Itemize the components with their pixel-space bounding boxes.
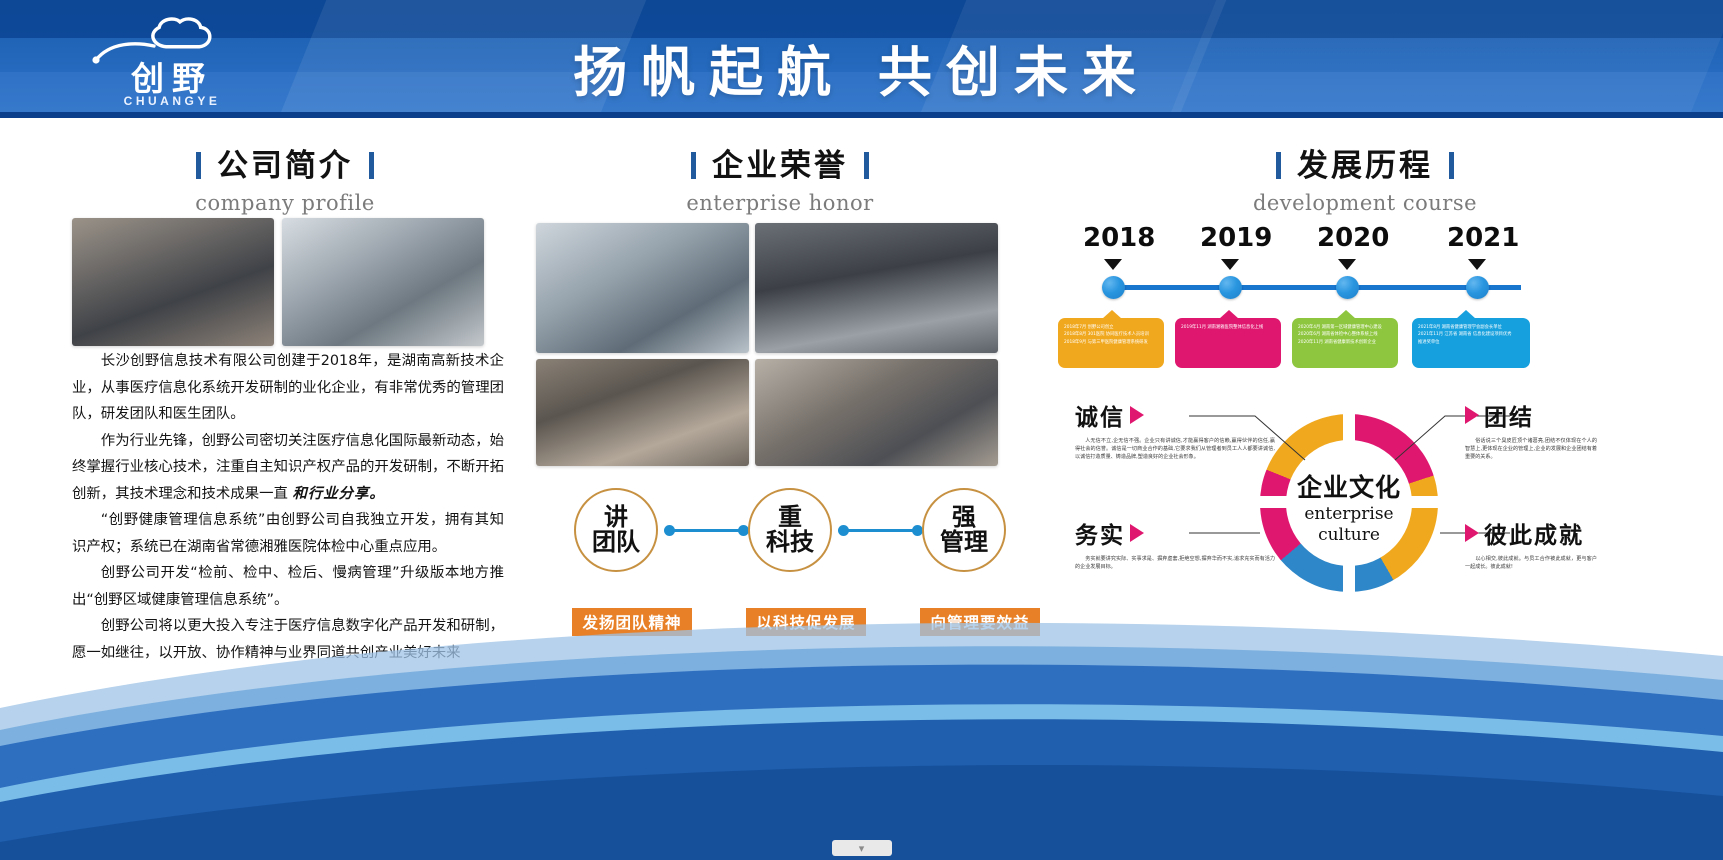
section-title-profile: 公司简介 company profile — [60, 140, 510, 215]
section-title-profile-en: company profile — [60, 191, 510, 215]
connector-dot-3 — [838, 525, 849, 536]
circle-connector-1 — [670, 529, 744, 532]
arrow-right-icon — [1465, 524, 1479, 542]
timeline-box-2019: 2019年11月 湖南湘雅医院整体信息化上线 — [1175, 318, 1281, 368]
culture-ring-title-cn: 企业文化 — [1260, 468, 1438, 504]
timeline-node-2018[interactable] — [1102, 276, 1125, 299]
honor-photo-1 — [536, 223, 749, 353]
arrow-right-icon — [1130, 524, 1144, 542]
section-title-profile-cn: 公司简介 — [60, 140, 510, 185]
culture-item-pragmatism-head: 务实 — [1075, 516, 1275, 550]
scroll-indicator[interactable]: ▾ — [832, 840, 892, 856]
profile-paragraph-2: 作为行业先锋，创野公司密切关注医疗信息化国际最新动态，始终掌握行业核心技术，注重… — [72, 428, 504, 508]
poster-main-title: 扬帆起航 共创未来 — [0, 28, 1723, 107]
profile-paragraph-1: 长沙创野信息技术有限公司创建于2018年，是湖南高新技术企业，从事医疗信息化系统… — [72, 348, 504, 428]
section-title-honor-en: enterprise honor — [520, 191, 1040, 215]
timeline-event: 2021年11月 江苏省 湖南省 信息化建设项目优秀 — [1418, 331, 1525, 338]
culture-item-integrity: 诚信 人无信不立,企无信不强。企业只有讲诚信,才能赢得客户的信赖,赢得伙伴的信任… — [1075, 398, 1275, 462]
culture-ring-label: 企业文化 enterprise culture — [1260, 468, 1438, 546]
timeline-box-2021: 2021年8月 湖南省健康管理学会副会长单位 2021年11月 江苏省 湖南省 … — [1412, 318, 1530, 368]
honor-photo-2 — [755, 223, 998, 353]
title-bar-left — [196, 152, 201, 179]
timeline-node-2020[interactable] — [1336, 276, 1359, 299]
timeline-box-notch — [1102, 310, 1122, 319]
ring-gap-top — [1343, 410, 1355, 444]
section-title-honor-cn: 企业荣誉 — [520, 140, 1040, 185]
culture-item-pragmatism-title: 务实 — [1075, 516, 1125, 550]
timeline-event: 2020年6月 湖南省体检中心整体系统上线 — [1298, 331, 1393, 338]
footer-wave-decoration: ▾ — [0, 560, 1723, 860]
culture-item-integrity-head: 诚信 — [1075, 398, 1275, 432]
timeline-year-2019: 2019 — [1200, 223, 1272, 253]
title-bar-right — [369, 152, 374, 179]
title-bar-left — [1276, 152, 1281, 179]
keyword-circle-team-text: 讲团队 — [592, 505, 640, 555]
timeline-year-2018: 2018 — [1083, 223, 1155, 253]
arrow-right-icon — [1465, 406, 1479, 424]
timeline-event: 2019年11月 湖南湘雅医院整体信息化上线 — [1181, 324, 1276, 331]
timeline-year-2020: 2020 — [1317, 223, 1389, 253]
timeline-box-notch — [1219, 310, 1239, 319]
timeline-caret-2019 — [1221, 259, 1239, 270]
culture-item-mutual-achievement-head: 彼此成就 — [1465, 516, 1665, 550]
keyword-circle-tech-text: 重科技 — [766, 505, 814, 555]
timeline-caret-2021 — [1468, 259, 1486, 270]
connector-dot-1 — [664, 525, 675, 536]
circle-connector-2 — [844, 529, 918, 532]
culture-item-unity: 团结 俗话说三个臭皮匠顶个诸葛亮,团结不仅体现在个人的智慧上,更体现在企业的管理… — [1465, 398, 1665, 462]
profile-photo-2 — [282, 218, 484, 346]
section-title-honor: 企业荣誉 enterprise honor — [520, 140, 1040, 215]
poster-header: 创野 CHUANGYE 扬帆起航 共创未来 — [0, 0, 1723, 118]
culture-wall-poster: 创野 CHUANGYE 扬帆起航 共创未来 公司简介 company profi… — [0, 0, 1723, 860]
timeline-event: 2018年7月 创野公司创立 — [1064, 324, 1159, 331]
section-title-course-en: development course — [1055, 191, 1675, 215]
title-bar-left — [691, 152, 696, 179]
culture-item-mutual-achievement-title: 彼此成就 — [1484, 516, 1584, 550]
culture-item-integrity-title: 诚信 — [1075, 398, 1125, 432]
timeline-box-2020: 2020年4月 湖南第一区域健康管理中心建设 2020年6月 湖南省体检中心整体… — [1292, 318, 1398, 368]
profile-paragraph-3: “创野健康管理信息系统”由创野公司自我独立开发，拥有其知识产权；系统已在湖南省常… — [72, 507, 504, 560]
culture-ring-title-en1: enterprise — [1260, 504, 1438, 525]
timeline-event: 2021年8月 湖南省健康管理学会副会长单位 — [1418, 324, 1525, 331]
title-bar-right — [1449, 152, 1454, 179]
timeline-event: 2020年4月 湖南第一区域健康管理中心建设 — [1298, 324, 1393, 331]
culture-item-unity-body: 俗话说三个臭皮匠顶个诸葛亮,团结不仅体现在个人的智慧上,更体现在企业的管理上,企… — [1465, 437, 1597, 462]
culture-item-integrity-body: 人无信不立,企无信不强。企业只有讲诚信,才能赢得客户的信赖,赢得伙伴的信任,赢得… — [1075, 437, 1275, 462]
honor-photo-3 — [536, 359, 749, 466]
arrow-right-icon — [1130, 406, 1144, 424]
keyword-circle-management-text: 强管理 — [940, 505, 988, 555]
timeline-box-2018: 2018年7月 创野公司创立 2018年8月 301医院 协同医疗技术人员培训 … — [1058, 318, 1164, 368]
section-title-course-cn: 发展历程 — [1055, 140, 1675, 185]
profile-photo-1 — [72, 218, 274, 346]
timeline-axis — [1109, 285, 1521, 290]
culture-item-unity-title: 团结 — [1484, 398, 1534, 432]
timeline-box-notch — [1456, 310, 1476, 319]
timeline-event: 2018年8月 301医院 协同医疗技术人员培训 — [1064, 331, 1159, 338]
profile-highlight-phrase: 和行业分享。 — [292, 485, 384, 502]
timeline-box-notch — [1336, 310, 1356, 319]
timeline-caret-2018 — [1104, 259, 1122, 270]
timeline-node-2021[interactable] — [1466, 276, 1489, 299]
culture-item-unity-head: 团结 — [1465, 398, 1665, 432]
timeline-event: 2018年9月 与第三甲医院健康管理系统研发 — [1064, 339, 1159, 346]
timeline-event: 推进奖单位 — [1418, 339, 1525, 346]
honor-photo-4 — [755, 359, 998, 466]
timeline-year-2021: 2021 — [1447, 223, 1519, 253]
timeline-node-2019[interactable] — [1219, 276, 1242, 299]
section-title-course: 发展历程 development course — [1055, 140, 1675, 215]
timeline-event: 2020年11月 湖南省健康新技术创新企业 — [1298, 339, 1393, 346]
title-bar-right — [864, 152, 869, 179]
culture-ring-title-en2: culture — [1260, 525, 1438, 546]
timeline-caret-2020 — [1338, 259, 1356, 270]
